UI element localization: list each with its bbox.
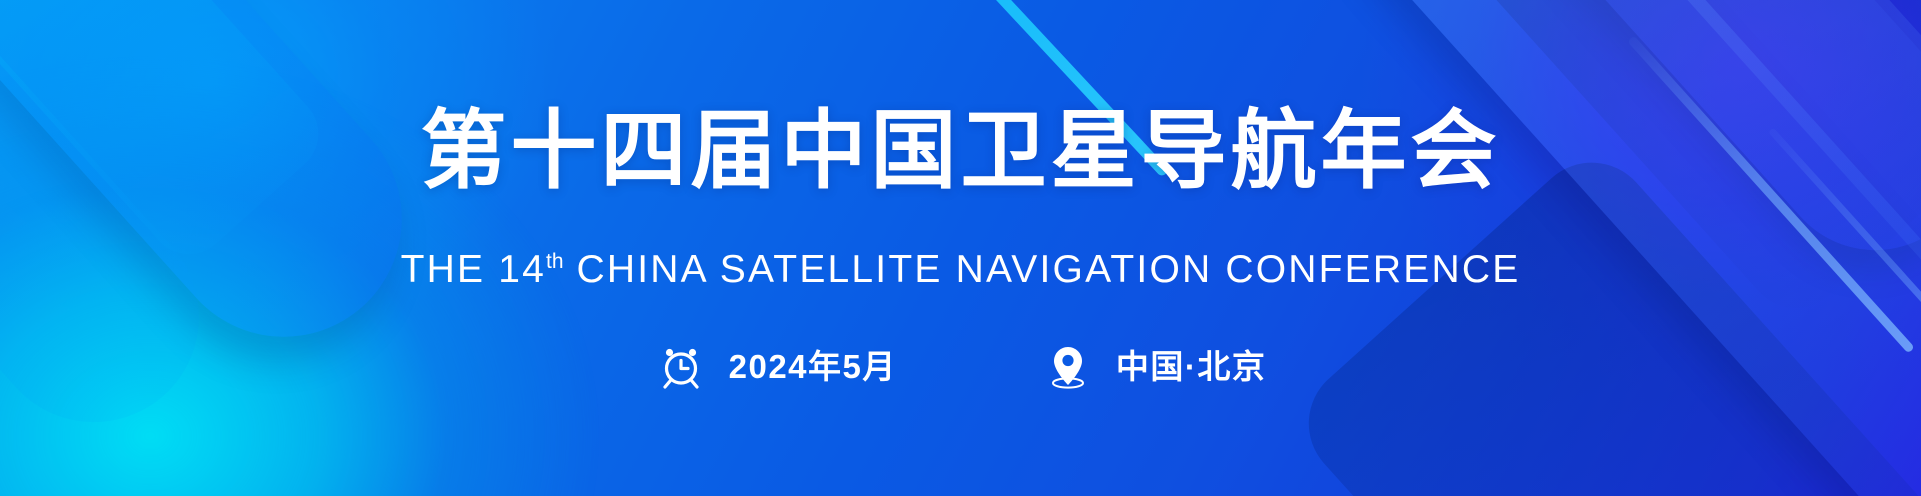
map-pin-icon [1042,340,1094,392]
event-date: 2024年5月 [655,340,897,392]
banner-content: 第十四届中国卫星导航年会 THE 14th CHINA SATELLITE NA… [0,0,1921,496]
conference-title-ordinal-suffix: th [546,250,564,273]
conference-title-english: THE 14th CHINA SATELLITE NAVIGATION CONF… [0,250,1921,289]
event-location: 中国·北京 [1042,340,1267,392]
conference-title-english-suffix: CHINA SATELLITE NAVIGATION CONFERENCE [564,248,1521,291]
alarm-clock-icon [655,340,707,392]
conference-title-chinese: 第十四届中国卫星导航年会 [0,108,1921,194]
event-location-label: 中国·北京 [1116,350,1267,383]
banner-meta-row: 2024年5月 中国·北京 [0,340,1921,392]
conference-banner: 第十四届中国卫星导航年会 THE 14th CHINA SATELLITE NA… [0,0,1921,496]
conference-title-english-prefix: THE 14 [401,248,546,291]
event-date-label: 2024年5月 [729,350,897,383]
